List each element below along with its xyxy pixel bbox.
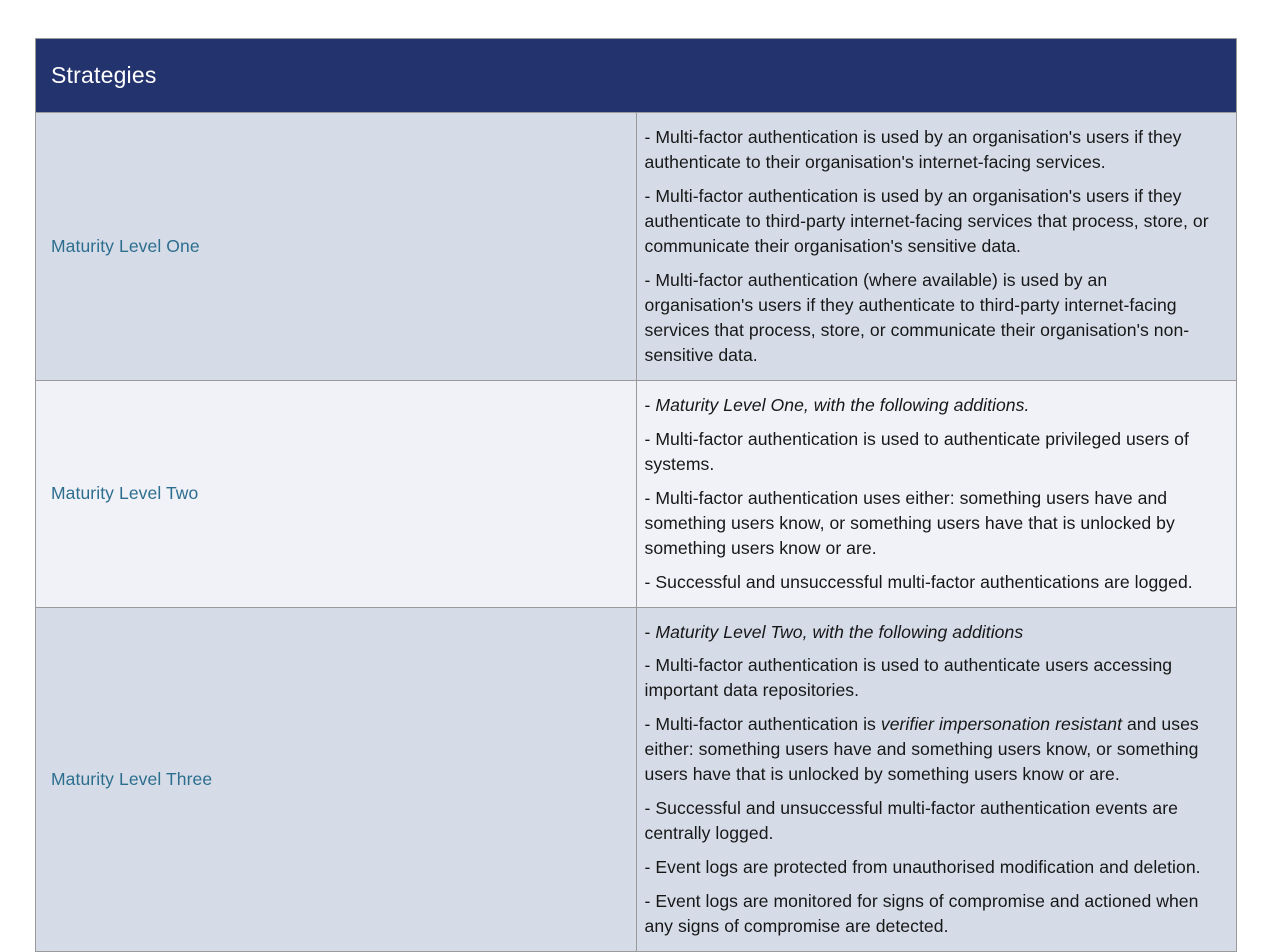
maturity-level-content-cell: - Maturity Level Two, with the following… (636, 607, 1236, 951)
bullet-item: - Maturity Level One, with the following… (645, 393, 1221, 418)
maturity-level-label: Maturity Level Three (51, 769, 212, 789)
bullet-text-emphasis: Maturity Level Two, with the following a… (655, 622, 1023, 642)
table-row: Maturity Level Three- Maturity Level Two… (36, 607, 1236, 951)
bullet-item: - Multi-factor authentication is used to… (645, 427, 1221, 477)
strategies-table-container: Strategies Maturity Level One- Multi-fac… (35, 38, 1237, 952)
bullet-text: - Multi-factor authentication uses eithe… (645, 488, 1175, 558)
maturity-level-content-cell: - Multi-factor authentication is used by… (636, 113, 1236, 381)
bullet-text: - Successful and unsuccessful multi-fact… (645, 798, 1178, 843)
bullet-item: - Successful and unsuccessful multi-fact… (645, 570, 1221, 595)
maturity-level-label: Maturity Level Two (51, 483, 198, 503)
bullet-text: - Successful and unsuccessful multi-fact… (645, 572, 1193, 592)
maturity-level-label-cell: Maturity Level One (36, 113, 636, 381)
bullet-text: - Multi-factor authentication is used to… (645, 655, 1173, 700)
bullet-text: - Multi-factor authentication is used by… (645, 127, 1182, 172)
table-body: Strategies (36, 39, 1236, 113)
bullet-item: - Multi-factor authentication is used by… (645, 125, 1221, 175)
maturity-level-content-cell: - Maturity Level One, with the following… (636, 380, 1236, 607)
bullet-text-emphasis: verifier impersonation resistant (881, 714, 1122, 734)
bullet-text: - Event logs are monitored for signs of … (645, 891, 1199, 936)
bullet-item: - Maturity Level Two, with the following… (645, 620, 1221, 645)
bullet-item: - Multi-factor authentication (where ava… (645, 268, 1221, 368)
bullet-item: - Event logs are protected from unauthor… (645, 855, 1221, 880)
strategies-table: Strategies Maturity Level One- Multi-fac… (36, 39, 1236, 951)
bullet-text: - Multi-factor authentication is used by… (645, 186, 1209, 256)
bullet-item: - Multi-factor authentication is used to… (645, 653, 1221, 703)
table-header-row: Strategies (36, 39, 1236, 113)
bullet-text: - Event logs are protected from unauthor… (645, 857, 1201, 877)
bullet-text-emphasis: Maturity Level One, with the following a… (655, 395, 1029, 415)
bullet-item: - Multi-factor authentication is verifie… (645, 712, 1221, 787)
bullet-item: - Successful and unsuccessful multi-fact… (645, 796, 1221, 846)
page-title: Strategies (51, 64, 157, 87)
header-inner: Strategies (36, 39, 1236, 112)
bullet-text: - Multi-factor authentication is (645, 714, 881, 734)
maturity-level-label: Maturity Level One (51, 236, 200, 256)
bullet-text: - (645, 622, 656, 642)
maturity-level-label-cell: Maturity Level Two (36, 380, 636, 607)
bullet-item: - Multi-factor authentication is used by… (645, 184, 1221, 259)
bullet-item: - Multi-factor authentication uses eithe… (645, 486, 1221, 561)
bullet-text: - Multi-factor authentication (where ava… (645, 270, 1190, 365)
table-header-cell: Strategies (36, 39, 1236, 113)
bullet-text: - Multi-factor authentication is used to… (645, 429, 1189, 474)
table-row: Maturity Level Two- Maturity Level One, … (36, 380, 1236, 607)
table-row: Maturity Level One- Multi-factor authent… (36, 113, 1236, 381)
bullet-item: - Event logs are monitored for signs of … (645, 889, 1221, 939)
maturity-level-label-cell: Maturity Level Three (36, 607, 636, 951)
maturity-rows: Maturity Level One- Multi-factor authent… (36, 113, 1236, 952)
bullet-text: - (645, 395, 656, 415)
